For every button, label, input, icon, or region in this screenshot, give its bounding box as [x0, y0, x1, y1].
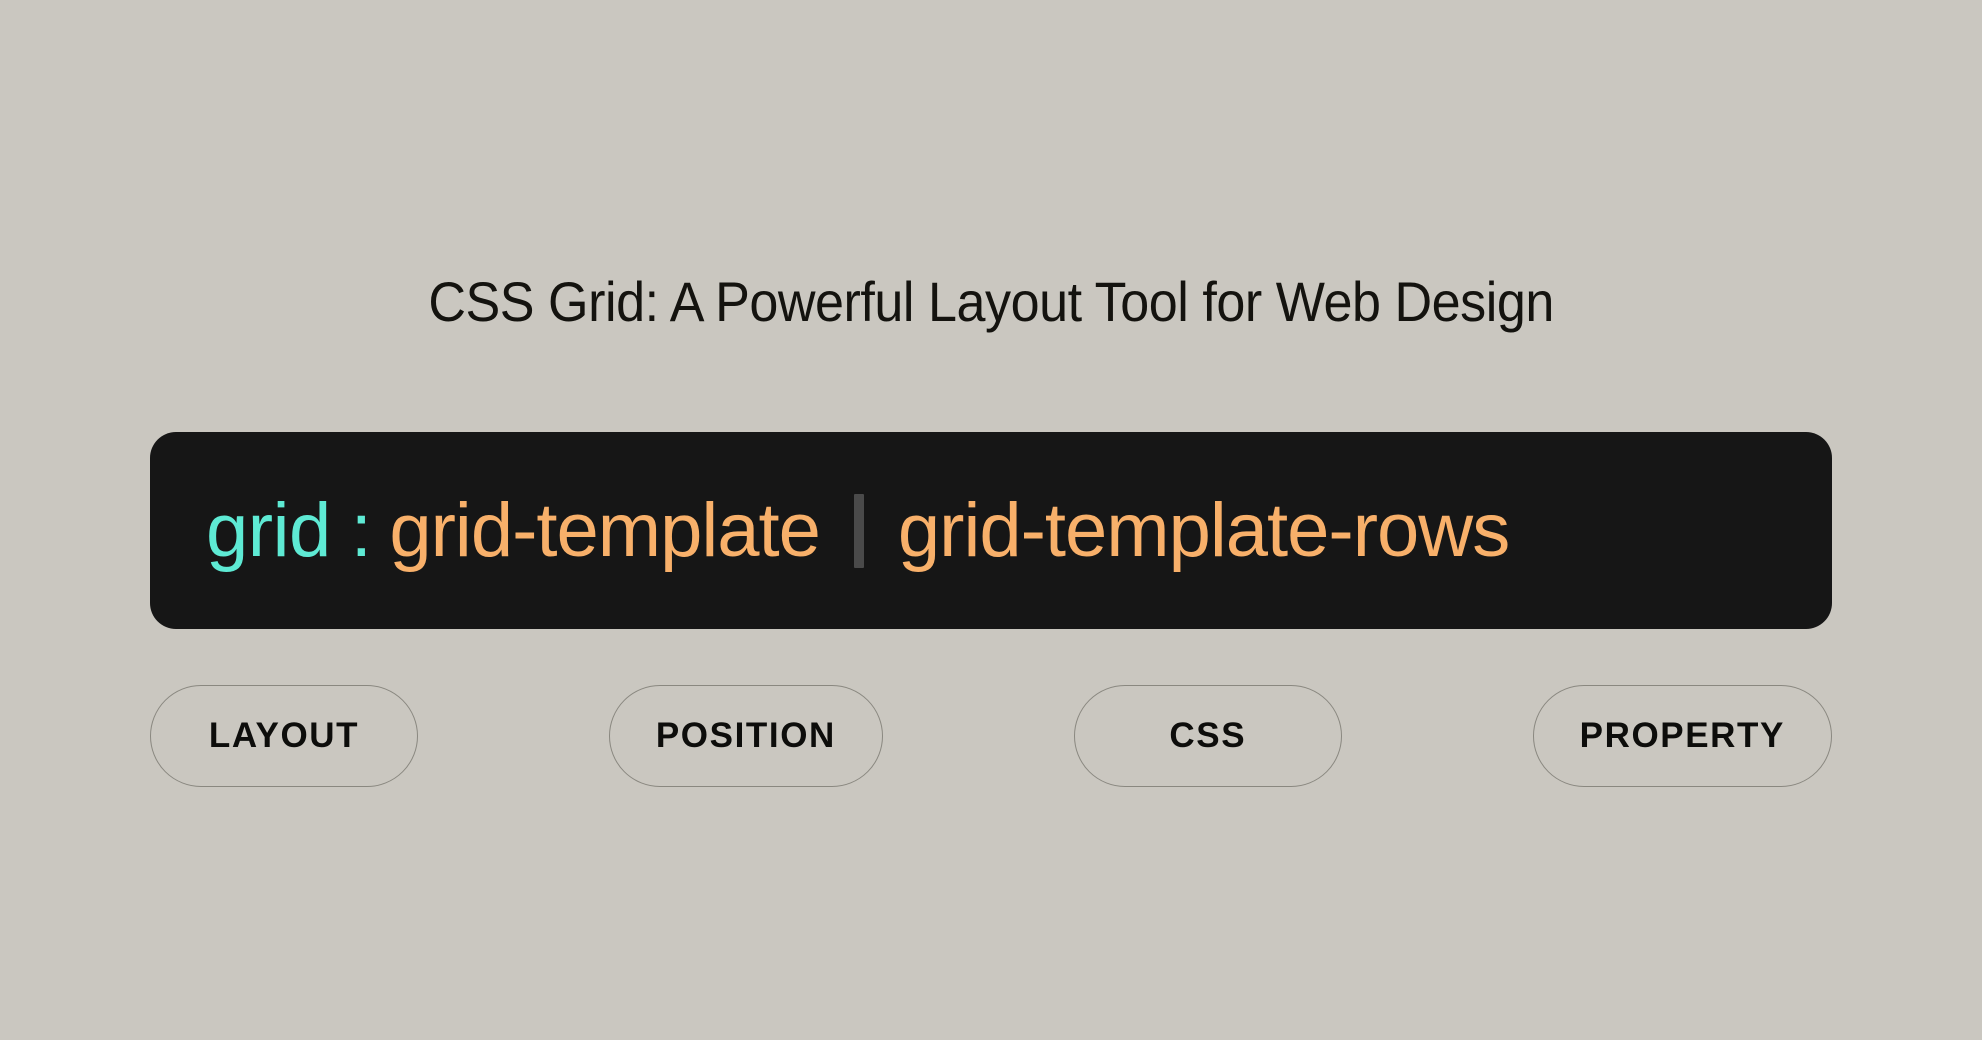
page-title: CSS Grid: A Powerful Layout Tool for Web…	[428, 274, 1553, 330]
tag-pill-label: POSITION	[656, 716, 836, 756]
tag-pill-label: CSS	[1169, 716, 1246, 756]
vertical-bar-separator-icon	[854, 494, 864, 568]
page-root: CSS Grid: A Powerful Layout Tool for Web…	[0, 0, 1982, 1040]
tag-pill-label: LAYOUT	[209, 716, 359, 756]
code-line: grid : grid-template grid-template-rows	[206, 493, 1509, 569]
colon-separator: :	[351, 493, 372, 569]
css-value-second: grid-template-rows	[898, 493, 1509, 569]
css-value-first: grid-template	[389, 493, 820, 569]
tag-pill-layout[interactable]: LAYOUT	[150, 685, 418, 787]
tag-pill-label: PROPERTY	[1580, 716, 1785, 756]
tag-pill-css[interactable]: CSS	[1074, 685, 1342, 787]
css-property-name: grid	[206, 493, 331, 569]
tag-pill-row: LAYOUT POSITION CSS PROPERTY	[150, 685, 1832, 787]
tag-pill-property[interactable]: PROPERTY	[1533, 685, 1832, 787]
code-property-bar: grid : grid-template grid-template-rows	[150, 432, 1832, 629]
tag-pill-position[interactable]: POSITION	[609, 685, 883, 787]
page-title-container: CSS Grid: A Powerful Layout Tool for Web…	[0, 274, 1982, 330]
